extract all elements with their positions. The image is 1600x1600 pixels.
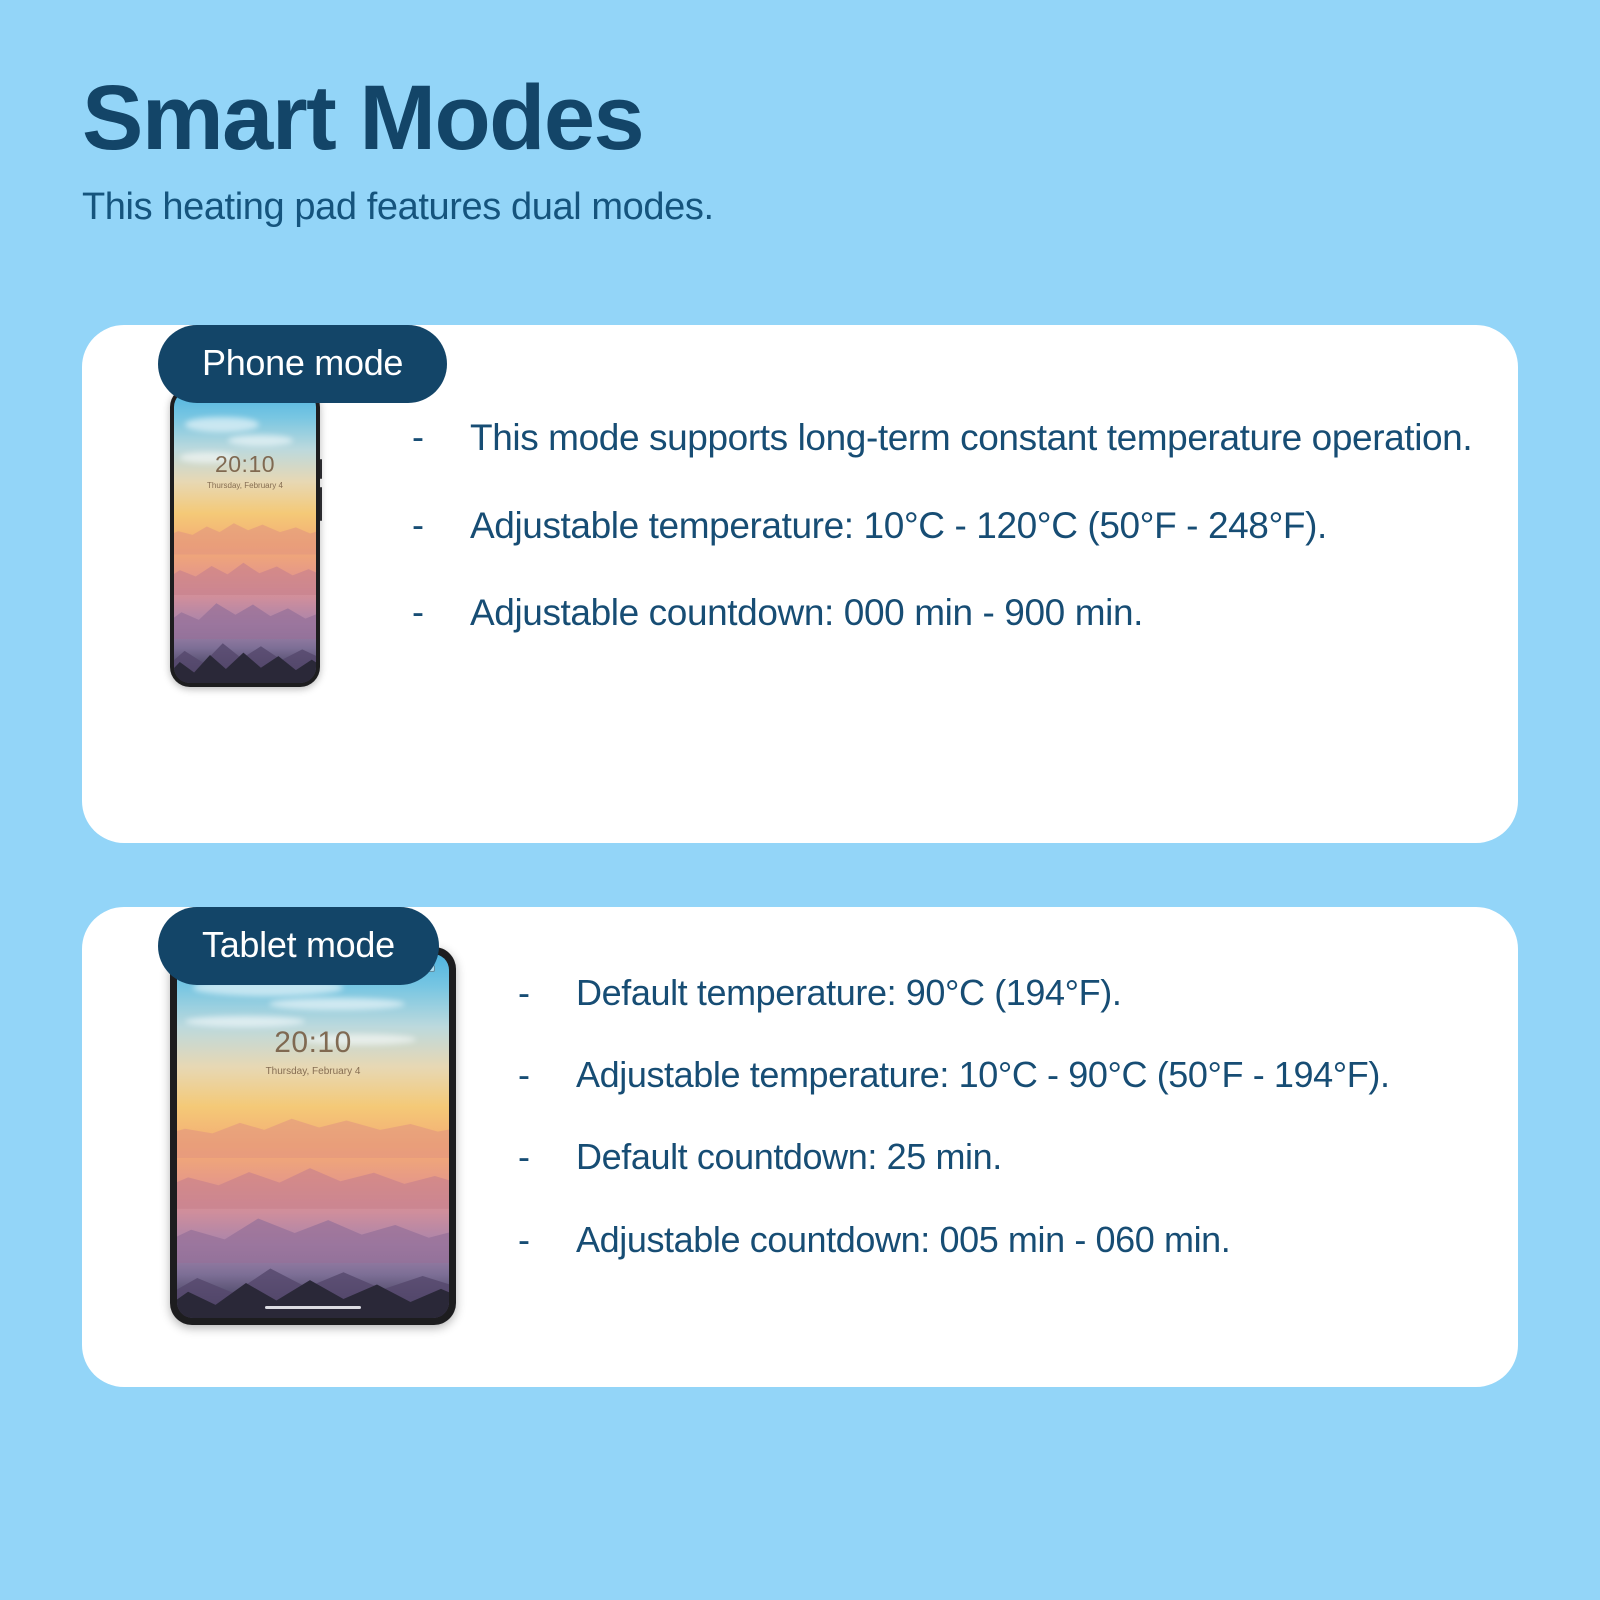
phone-lock-date: Thursday, February 4 (174, 481, 316, 490)
phone-power-button (320, 487, 322, 521)
page-title: Smart Modes (82, 72, 1600, 164)
bullet-dash: - (518, 967, 576, 1019)
bullet-dash: - (412, 499, 470, 551)
tablet-lock-clock: 20:10 (177, 1026, 449, 1060)
bullet-text: Default temperature: 90°C (194°F). (576, 967, 1121, 1019)
tablet-wallpaper (177, 954, 449, 1318)
tablet-device-mockup: ▾ ▾ 100% 20:10 Thursday, February 4 (170, 947, 456, 1325)
list-item: - Adjustable temperature: 10°C - 90°C (5… (518, 1049, 1478, 1101)
list-item: - This mode supports long-term constant … (412, 411, 1474, 465)
phone-bullet-list: - This mode supports long-term constant … (320, 387, 1474, 640)
bullet-text: Adjustable countdown: 005 min - 060 min. (576, 1214, 1230, 1266)
page-header: Smart Modes This heating pad features du… (0, 0, 1600, 229)
bullet-dash: - (412, 411, 470, 463)
bullet-text: Default countdown: 25 min. (576, 1131, 1002, 1183)
mountain-ridge (174, 508, 316, 555)
tablet-mode-section: Tablet mode (0, 907, 1600, 1387)
phone-wallpaper (174, 391, 316, 683)
tablet-bullet-list: - Default temperature: 90°C (194°F). - A… (456, 947, 1478, 1296)
phone-volume-button (320, 459, 322, 479)
bullet-dash: - (518, 1214, 576, 1266)
page-subtitle: This heating pad features dual modes. (82, 186, 1600, 229)
phone-device-column: 20:10 Thursday, February 4 (170, 387, 320, 687)
tablet-device-column: ▾ ▾ 100% 20:10 Thursday, February 4 (170, 947, 456, 1325)
phone-device-mockup: 20:10 Thursday, February 4 (170, 387, 320, 687)
list-item: - Default countdown: 25 min. (518, 1131, 1478, 1183)
tablet-screen: ▾ ▾ 100% 20:10 Thursday, February 4 (177, 954, 449, 1318)
cloud-shape (228, 435, 293, 447)
phone-mode-section: Phone mode (0, 325, 1600, 843)
tablet-lock-date: Thursday, February 4 (177, 1066, 449, 1077)
list-item: - Default temperature: 90°C (194°F). (518, 967, 1478, 1019)
mountain-ridge (177, 1100, 449, 1158)
cloud-shape (185, 417, 259, 432)
tablet-mode-badge: Tablet mode (158, 907, 439, 985)
list-item: - Adjustable countdown: 005 min - 060 mi… (518, 1214, 1478, 1266)
bullet-text: Adjustable temperature: 10°C - 120°C (50… (470, 499, 1327, 553)
bullet-dash: - (518, 1131, 576, 1183)
bullet-dash: - (412, 586, 470, 638)
list-item: - Adjustable temperature: 10°C - 120°C (… (412, 499, 1474, 553)
home-indicator (265, 1306, 361, 1309)
cloud-shape (269, 998, 405, 1011)
bullet-text: Adjustable countdown: 000 min - 900 min. (470, 586, 1143, 640)
phone-screen: 20:10 Thursday, February 4 (174, 391, 316, 683)
phone-mode-badge: Phone mode (158, 325, 447, 403)
bullet-text: This mode supports long-term constant te… (470, 411, 1472, 465)
bullet-dash: - (518, 1049, 576, 1101)
bullet-text: Adjustable temperature: 10°C - 90°C (50°… (576, 1049, 1390, 1101)
list-item: - Adjustable countdown: 000 min - 900 mi… (412, 586, 1474, 640)
phone-lock-clock: 20:10 (174, 451, 316, 478)
